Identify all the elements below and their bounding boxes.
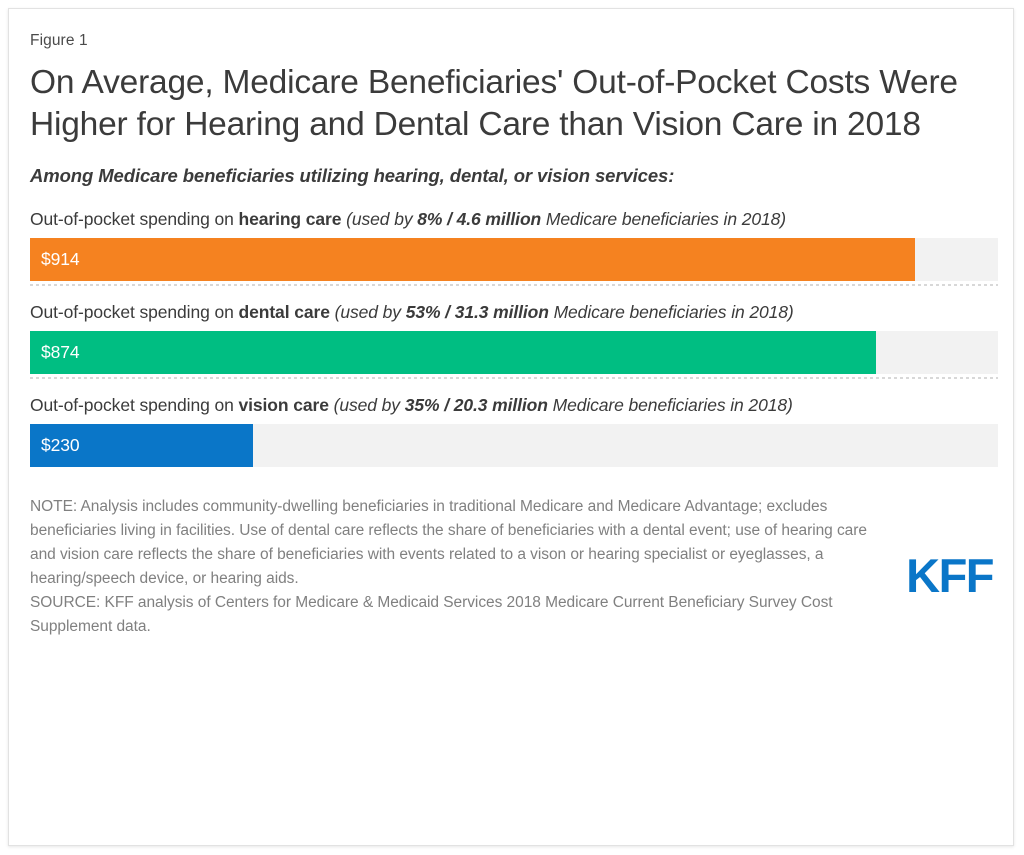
bar-group-vision: Out-of-pocket spending on vision care (u… [30, 393, 1005, 467]
bar-label-paren-close: Medicare beneficiaries in 2018) [549, 302, 794, 322]
bar-label-prefix: Out-of-pocket spending on [30, 302, 239, 322]
bar-separator [30, 284, 998, 286]
bar-label-paren-open: (used by [329, 395, 405, 415]
bar-label-category: dental care [239, 302, 330, 322]
figure-content: Figure 1 On Average, Medicare Beneficiar… [30, 25, 1005, 839]
bar-label-paren-close: Medicare beneficiaries in 2018) [548, 395, 793, 415]
bar-fill-hearing[interactable] [30, 238, 915, 281]
bar-label-prefix: Out-of-pocket spending on [30, 395, 239, 415]
bar-track-vision: $230 [30, 424, 998, 467]
bar-label-prefix: Out-of-pocket spending on [30, 209, 239, 229]
bar-label-category: hearing care [239, 209, 342, 229]
bar-track-hearing: $914 [30, 238, 998, 281]
figure-card: Figure 1 On Average, Medicare Beneficiar… [8, 8, 1014, 846]
bar-track-dental: $874 [30, 331, 998, 374]
bar-label-dental: Out-of-pocket spending on dental care (u… [30, 300, 975, 324]
bar-value-vision: $230 [41, 424, 80, 467]
bar-chart: Out-of-pocket spending on hearing care (… [30, 207, 1005, 467]
source-text: SOURCE: KFF analysis of Centers for Medi… [30, 591, 892, 639]
bar-label-category: vision care [239, 395, 329, 415]
bar-label-share: 8% / 4.6 million [417, 209, 541, 229]
bar-label-paren-close: Medicare beneficiaries in 2018) [541, 209, 786, 229]
chart-subtitle: Among Medicare beneficiaries utilizing h… [30, 164, 1005, 188]
bar-label-share: 53% / 31.3 million [406, 302, 549, 322]
bar-label-vision: Out-of-pocket spending on vision care (u… [30, 393, 975, 417]
bar-value-dental: $874 [41, 331, 80, 374]
figure-number: Figure 1 [30, 31, 1005, 51]
bar-group-hearing: Out-of-pocket spending on hearing care (… [30, 207, 1005, 286]
bar-label-hearing: Out-of-pocket spending on hearing care (… [30, 207, 975, 231]
bar-fill-dental[interactable] [30, 331, 876, 374]
figure-footer: NOTE: Analysis includes community-dwelli… [30, 495, 1005, 639]
note-text: NOTE: Analysis includes community-dwelli… [30, 495, 892, 591]
bar-value-hearing: $914 [41, 238, 80, 281]
bar-label-paren-open: (used by [341, 209, 417, 229]
bar-label-paren-open: (used by [330, 302, 406, 322]
bar-separator [30, 377, 998, 379]
bar-group-dental: Out-of-pocket spending on dental care (u… [30, 300, 1005, 379]
kff-logo: KFF [906, 548, 993, 603]
bar-label-share: 35% / 20.3 million [405, 395, 548, 415]
page-title: On Average, Medicare Beneficiaries' Out-… [30, 62, 1005, 146]
